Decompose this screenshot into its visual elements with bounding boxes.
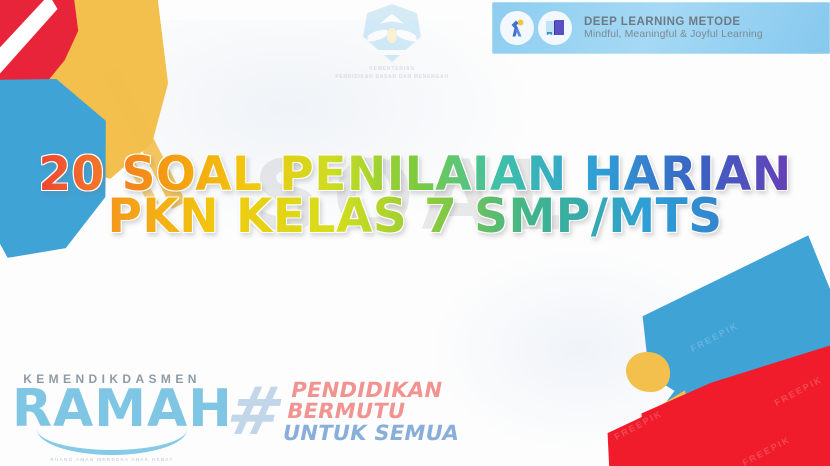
- page-title: 20 SOAL PENILAIAN HARIAN PKN KELAS 7 SMP…: [0, 152, 830, 240]
- hashtag-word-3: UNTUK SEMUA: [281, 421, 462, 445]
- hashtag-word-1: PENDIDIKAN: [289, 378, 445, 402]
- ministry-line-2: PENDIDIKAN DASAR DAN MENENGAH: [322, 73, 462, 81]
- open-book-icon: [538, 11, 572, 45]
- hashtag-word-2: BERMUTU: [285, 399, 408, 423]
- poster-canvas: KEMENTERIAN PENDIDIKAN DASAR DAN MENENGA…: [0, 0, 830, 466]
- deep-learning-subtitle: Mindful, Meaningful & Joyful Learning: [584, 29, 763, 41]
- hashtag-words: PENDIDIKAN BERMUTU UNTUK SEMUA: [281, 380, 469, 444]
- deep-learning-title: DEEP LEARNING METODE: [584, 16, 763, 29]
- bottom-right-yellow-dot: [626, 352, 670, 392]
- ministry-line-1: KEMENTERIAN: [322, 65, 462, 73]
- tut-wuri-handayani-crest-icon: [363, 4, 421, 62]
- hashtag-logo: # PENDIDIKAN BERMUTU UNTUK SEMUA: [228, 380, 463, 444]
- hash-symbol-icon: #: [223, 386, 289, 439]
- ramah-tagline: RUANG AMAN MERDEKA ANAK HEBAT: [12, 457, 212, 462]
- person-sun-icon: [500, 11, 534, 45]
- deep-learning-text-block: DEEP LEARNING METODE Mindful, Meaningful…: [584, 16, 763, 41]
- ramah-smile-arc: [37, 429, 187, 455]
- ramah-logo: KEMENDIKDASMEN RAMAH RUANG AMAN MERDEKA …: [12, 372, 212, 462]
- ministry-logo: KEMENTERIAN PENDIDIKAN DASAR DAN MENENGA…: [322, 4, 462, 81]
- ramah-main-text: RAMAH: [12, 387, 212, 433]
- crest-flame-shape: [387, 28, 397, 43]
- page-title-line-2: PKN KELAS 7 SMP/MTS: [0, 194, 830, 240]
- crest-base-shape: [377, 50, 407, 55]
- deep-learning-banner: DEEP LEARNING METODE Mindful, Meaningful…: [492, 2, 830, 54]
